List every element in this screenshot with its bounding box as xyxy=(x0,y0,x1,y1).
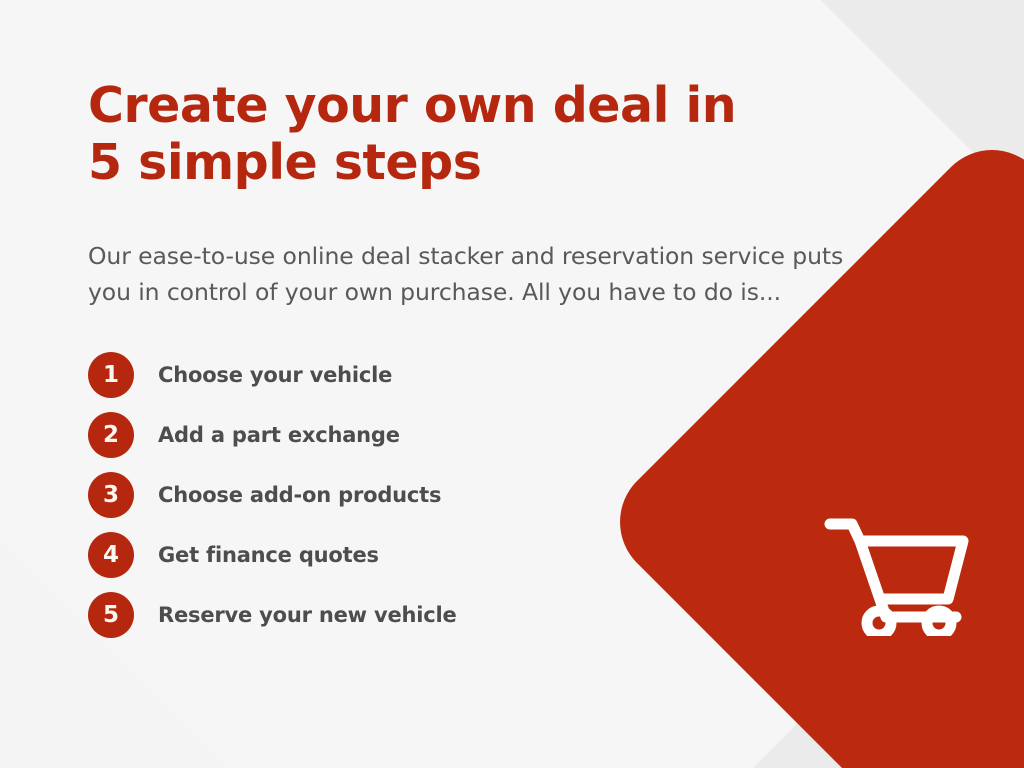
steps-list: 1 Choose your vehicle 2 Add a part excha… xyxy=(88,352,457,638)
list-item: 2 Add a part exchange xyxy=(88,412,457,458)
step-number-badge: 1 xyxy=(88,352,134,398)
step-label: Add a part exchange xyxy=(158,423,400,447)
step-label: Choose your vehicle xyxy=(158,363,392,387)
slide-canvas: Create your own deal in 5 simple steps O… xyxy=(0,0,1024,768)
step-label: Get finance quotes xyxy=(158,543,379,567)
step-label: Reserve your new vehicle xyxy=(158,603,457,627)
step-label: Choose add-on products xyxy=(158,483,441,507)
step-number-badge: 2 xyxy=(88,412,134,458)
step-number-badge: 3 xyxy=(88,472,134,518)
step-number-badge: 4 xyxy=(88,532,134,578)
step-number-badge: 5 xyxy=(88,592,134,638)
list-item: 3 Choose add-on products xyxy=(88,472,457,518)
page-title: Create your own deal in 5 simple steps xyxy=(88,78,948,192)
list-item: 1 Choose your vehicle xyxy=(88,352,457,398)
list-item: 5 Reserve your new vehicle xyxy=(88,592,457,638)
shopping-cart-icon xyxy=(822,511,972,636)
page-subtitle: Our ease-to-use online deal stacker and … xyxy=(88,192,948,311)
text-content-block: Create your own deal in 5 simple steps O… xyxy=(88,78,948,311)
list-item: 4 Get finance quotes xyxy=(88,532,457,578)
